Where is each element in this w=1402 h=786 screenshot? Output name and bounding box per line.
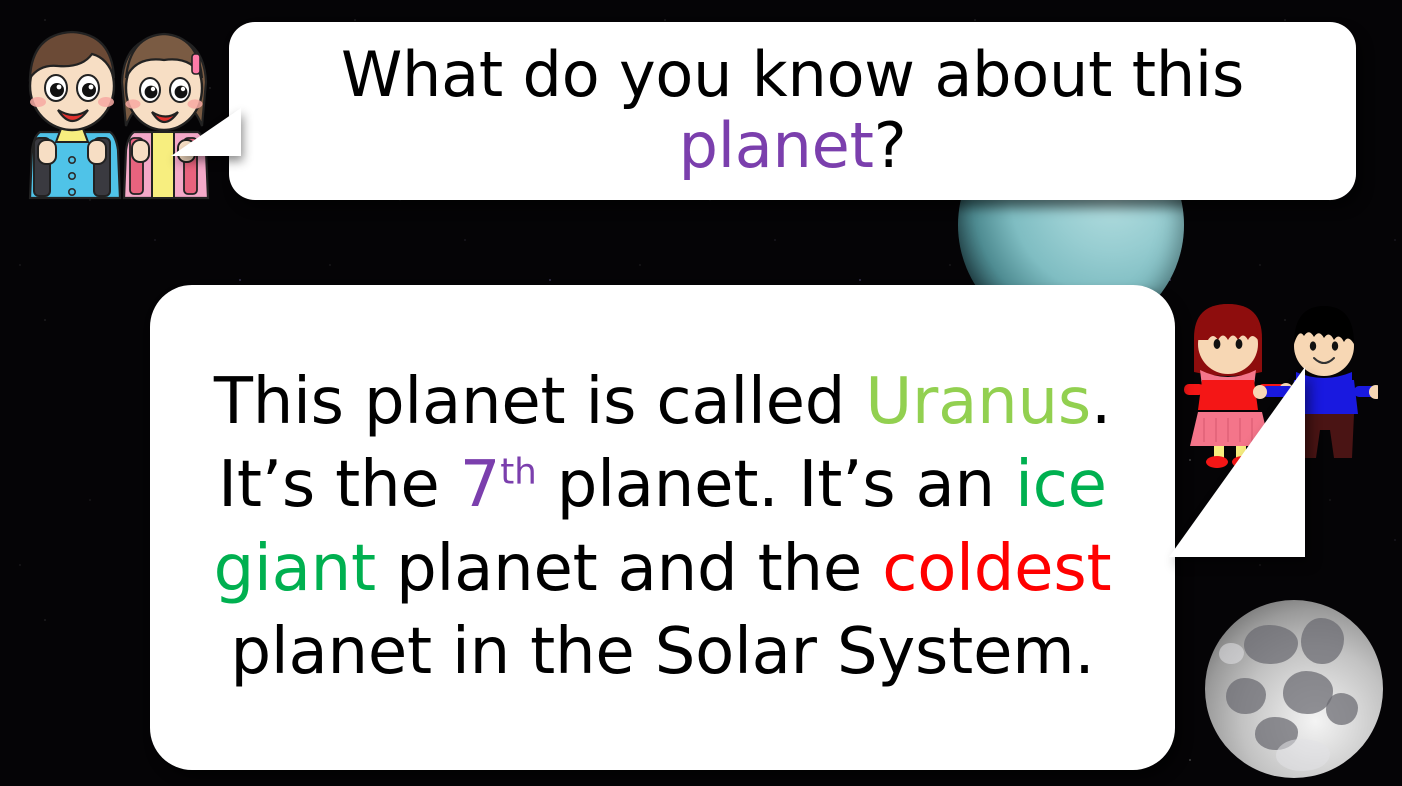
answer-ordinal-number: 7 bbox=[460, 448, 501, 522]
moon-crater bbox=[1326, 693, 1358, 725]
moon-crater bbox=[1244, 625, 1297, 664]
answer-ordinal-suffix: th bbox=[500, 452, 536, 493]
hair-clip bbox=[192, 54, 200, 74]
question-highlight-planet: planet bbox=[679, 109, 874, 182]
answer-segment-3: planet. It’s an bbox=[537, 448, 1015, 522]
moon-crater-light bbox=[1276, 739, 1329, 771]
moon-icon bbox=[1205, 600, 1383, 778]
boy-figure bbox=[30, 32, 120, 198]
answer-text: This planet is called Uranus. It’s the 7… bbox=[150, 361, 1175, 694]
question-line-1: What do you know about this bbox=[341, 38, 1244, 111]
slide-canvas: What do you know about this planet? This… bbox=[0, 0, 1402, 786]
moon-crater-light bbox=[1219, 643, 1244, 664]
answer-superlative: coldest bbox=[882, 532, 1111, 606]
answer-speech-bubble[interactable]: This planet is called Uranus. It’s the 7… bbox=[150, 285, 1175, 770]
question-speech-bubble[interactable]: What do you know about this planet? bbox=[229, 22, 1356, 200]
answer-segment-1: This planet is called bbox=[214, 365, 866, 439]
answer-planet-name: Uranus bbox=[865, 365, 1091, 439]
answer-segment-5: planet in the Solar System. bbox=[230, 615, 1094, 689]
moon-crater bbox=[1226, 678, 1265, 714]
bubble-tail-right bbox=[1169, 367, 1305, 557]
question-text: What do you know about this planet? bbox=[229, 40, 1356, 181]
question-punctuation: ? bbox=[874, 109, 907, 182]
moon-crater bbox=[1301, 618, 1344, 664]
answer-segment-4: planet and the bbox=[376, 532, 882, 606]
